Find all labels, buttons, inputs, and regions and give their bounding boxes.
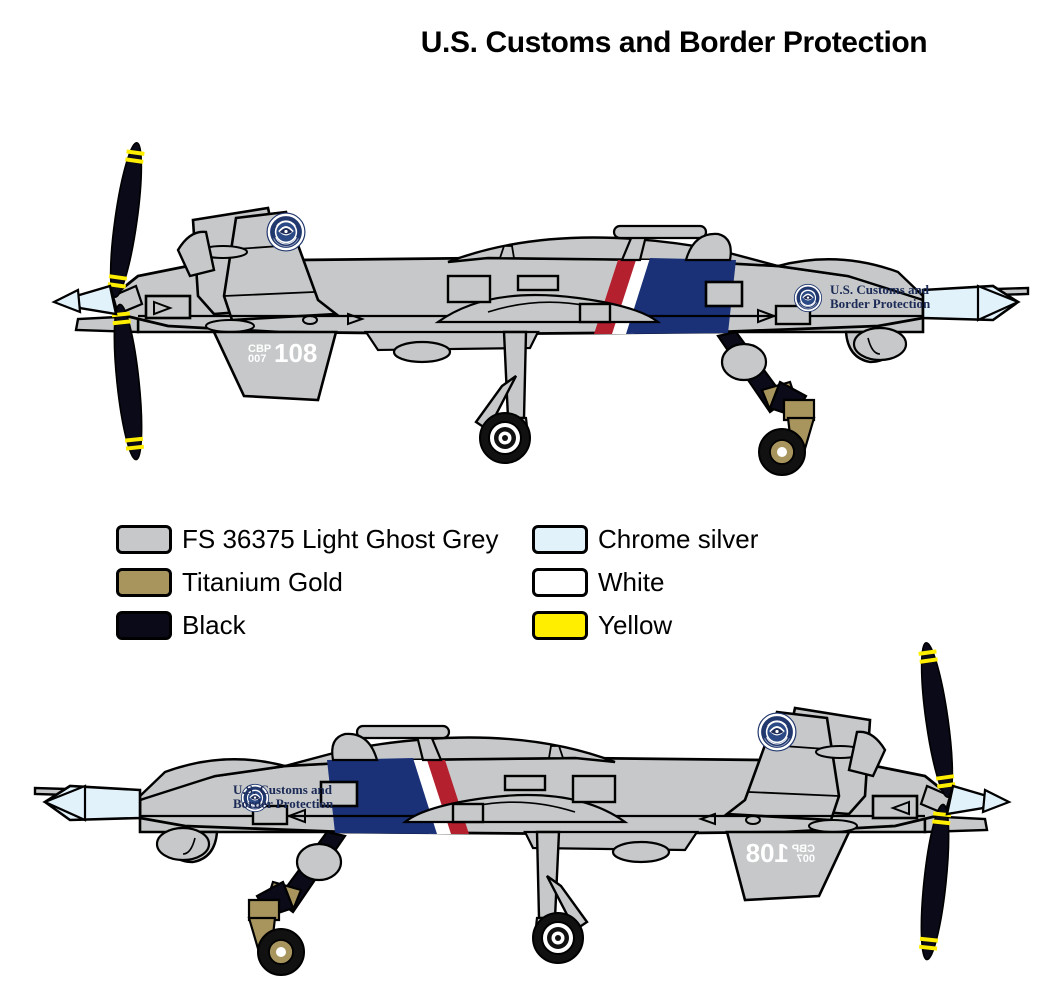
fuselage-marking-group: U.S. Customs and Border Protection xyxy=(233,782,334,811)
access-panel-1 xyxy=(448,276,490,302)
swatch-white xyxy=(532,568,588,597)
access-panel-3 xyxy=(580,304,610,322)
legend-item-chrome-silver: Chrome silver xyxy=(532,524,758,555)
legend-item-light-ghost-grey: FS 36375 Light Ghost Grey xyxy=(116,524,499,555)
legend-label-titanium-gold: Titanium Gold xyxy=(182,567,343,598)
ventral-antenna-pod xyxy=(854,328,906,360)
tail-code-group: CBP 007 108 xyxy=(248,338,317,368)
tail-code-007: 007 xyxy=(797,853,815,865)
swatch-titanium-gold xyxy=(116,568,172,597)
swatch-chrome-silver xyxy=(532,525,588,554)
access-panel-4 xyxy=(706,282,742,306)
fuselage-marking-line1: U.S. Customs and xyxy=(233,782,333,797)
access-panel-1 xyxy=(573,776,615,802)
legend-item-white: White xyxy=(532,567,664,598)
belly-pod xyxy=(613,842,669,862)
legend-label-white: White xyxy=(598,567,664,598)
page-title: U.S. Customs and Border Protection xyxy=(0,26,1063,60)
aircraft-body-group-mirrored: CBP 007 108 xyxy=(35,641,1009,975)
dhs-seal-tail xyxy=(758,713,796,751)
legend-label-light-ghost-grey: FS 36375 Light Ghost Grey xyxy=(182,524,499,555)
main-gear-hub-center xyxy=(555,935,561,941)
illustration-page: U.S. Customs and Border Protection xyxy=(0,0,1063,1003)
antenna-crossbar xyxy=(614,226,706,238)
nose-gear-bay-fairing xyxy=(297,844,341,880)
spinner-tip-chrome xyxy=(983,790,1009,812)
aircraft-body-group: CBP 007 108 xyxy=(54,141,1028,475)
fuselage-marking-line2: Border Protection xyxy=(233,796,334,811)
spinner-fairing-chrome xyxy=(947,786,987,814)
belly-pod xyxy=(394,342,450,362)
nose-gear-hub-center xyxy=(777,447,787,457)
swatch-light-ghost-grey xyxy=(116,525,172,554)
legend-label-chrome-silver: Chrome silver xyxy=(598,524,758,555)
fuselage-marking-line2: Border Protection xyxy=(830,296,931,311)
dhs-seal-tail xyxy=(267,213,305,251)
tail-code-group: CBP 007 108 xyxy=(746,838,815,868)
nose-gear-hub-center xyxy=(276,947,286,957)
tail-number: 108 xyxy=(274,338,317,368)
main-gear-strut xyxy=(537,832,559,918)
fin-actuator-lower xyxy=(809,820,857,832)
tail-number: 108 xyxy=(746,838,789,868)
access-panel-2 xyxy=(505,776,545,790)
aircraft-top-view: CBP 007 108 xyxy=(18,100,1038,480)
tail-code-007: 007 xyxy=(248,353,266,365)
spinner-tip-chrome xyxy=(54,290,80,312)
access-panel-3 xyxy=(453,804,483,822)
main-gear-hub-center xyxy=(502,435,508,441)
main-gear-strut xyxy=(504,332,526,418)
dhs-seal-fuselage xyxy=(794,284,821,311)
fuselage-marking-line1: U.S. Customs and xyxy=(830,282,930,297)
legend-item-titanium-gold: Titanium Gold xyxy=(116,567,343,598)
aircraft-bottom-view: CBP 007 108 xyxy=(25,600,1045,980)
spinner-fairing-chrome xyxy=(76,286,116,314)
ventral-antenna-pod xyxy=(157,828,209,860)
nose-gear-bay-fairing xyxy=(722,344,766,380)
access-panel-2 xyxy=(518,276,558,290)
antenna-crossbar xyxy=(357,726,449,738)
